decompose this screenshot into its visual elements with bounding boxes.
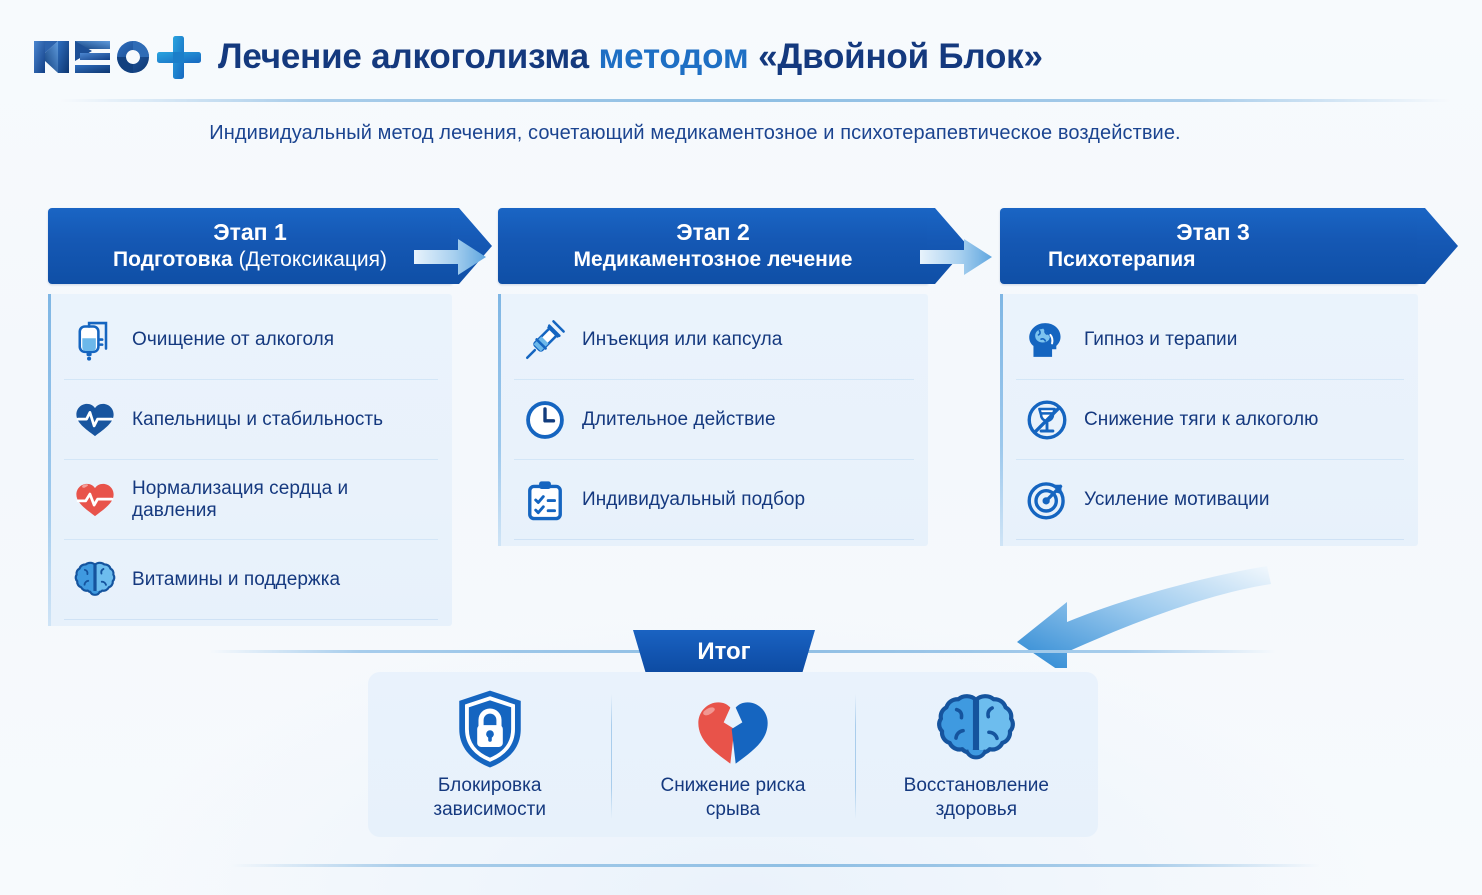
heart-pulse-red-icon	[64, 478, 126, 522]
stage-3-name: Психотерапия	[1048, 247, 1195, 272]
stage-2-label: Этап 2	[676, 220, 750, 245]
stage-2-items: Инъекция или капсула Длительное действие…	[498, 294, 928, 546]
list-item[interactable]: Витамины и поддержка	[64, 540, 438, 620]
stage-3-name-strong: Психотерапия	[1048, 248, 1195, 271]
list-item-label: Капельницы и стабильность	[126, 409, 383, 431]
result-item-label-line1: Блокировка	[438, 775, 542, 796]
list-item-label: Витамины и поддержка	[126, 569, 340, 591]
stage-connector-arrow-1	[414, 236, 488, 278]
stage-connector-arrow-2	[920, 236, 994, 278]
shield-lock-icon	[453, 688, 527, 770]
list-item-label: Инъекция или капсула	[576, 329, 782, 351]
result-item-label-line2: зависимости	[433, 799, 546, 820]
list-item[interactable]: Нормализация сердца и давления	[64, 460, 438, 540]
result-item-label: Снижение риска срыва	[660, 774, 805, 823]
no-alcohol-icon	[1016, 398, 1078, 442]
header-divider	[60, 99, 1450, 102]
stage-1-name: Подготовка (Детоксикация)	[113, 247, 387, 272]
list-item[interactable]: Снижение тяги к алкоголю	[1016, 380, 1404, 460]
stage-1-name-soft: (Детоксикация)	[239, 248, 387, 271]
heart-pulse-blue-icon	[64, 398, 126, 442]
stage-1-items: Очищение от алкоголя Капельницы и стабил…	[48, 294, 452, 626]
list-item-label: Очищение от алкоголя	[126, 329, 334, 351]
stage-2-name: Медикаментозное лечение	[574, 247, 853, 272]
head-brain-icon	[1016, 318, 1078, 362]
list-item[interactable]: Длительное действие	[514, 380, 914, 460]
stage-column-3: Этап 3 Психотерапия Гипноз и терапии Сни…	[1000, 208, 1418, 546]
target-arrow-icon	[1016, 478, 1078, 522]
footer-divider	[230, 864, 1320, 867]
stage-2-header[interactable]: Этап 2 Медикаментозное лечение	[498, 208, 928, 284]
list-item-label: Нормализация сердца и давления	[126, 478, 438, 522]
list-item-label: Усиление мотивации	[1078, 489, 1270, 511]
result-item-label: Блокировка зависимости	[433, 774, 546, 823]
clock-icon	[514, 398, 576, 442]
stage-3-header-point	[1417, 208, 1458, 284]
list-item[interactable]: Гипноз и терапии	[1016, 300, 1404, 380]
list-item[interactable]: Капельницы и стабильность	[64, 380, 438, 460]
stage-1-name-strong: Подготовка	[113, 248, 233, 271]
stage-3-items: Гипноз и терапии Снижение тяги к алкогол…	[1000, 294, 1418, 546]
stage-column-1: Этап 1 Подготовка (Детоксикация) Очищени…	[48, 208, 452, 626]
result-item-label-line1: Снижение риска	[660, 775, 805, 796]
neo-plus-logo	[28, 33, 204, 81]
syringe-icon	[514, 318, 576, 362]
title-part-1: Лечение алкоголизма	[218, 37, 589, 76]
clipboard-checklist-icon	[514, 478, 576, 522]
result-badge: Итог	[633, 630, 815, 673]
page-header: Лечение алкоголизма методом «Двойной Бло…	[0, 0, 1482, 102]
title-part-2: методом	[598, 37, 748, 76]
list-item-label: Индивидуальный подбор	[576, 489, 805, 511]
page-subtitle: Индивидуальный метод лечения, сочетающий…	[0, 122, 1390, 145]
result-item-blokirovka[interactable]: Блокировка зависимости	[368, 672, 611, 837]
list-item[interactable]: Инъекция или капсула	[514, 300, 914, 380]
list-item[interactable]: Очищение от алкоголя	[64, 300, 438, 380]
brain-icon	[934, 688, 1018, 770]
brain-icon	[64, 558, 126, 602]
stage-1-header[interactable]: Этап 1 Подготовка (Детоксикация)	[48, 208, 452, 284]
result-item-vosstanovlenie[interactable]: Восстановление здоровья	[855, 672, 1098, 837]
result-item-snizhenie-riska[interactable]: Снижение риска срыва	[611, 672, 854, 837]
result-item-label-line2: срыва	[706, 799, 760, 820]
stage-2-name-strong: Медикаментозное лечение	[574, 248, 853, 271]
stage-column-2: Этап 2 Медикаментозное лечение Инъекция …	[498, 208, 928, 546]
result-item-label-line1: Восстановление	[904, 775, 1049, 796]
broken-heart-icon	[690, 688, 776, 770]
result-card: Блокировка зависимости Снижение риска ср…	[368, 672, 1098, 837]
list-item[interactable]: Усиление мотивации	[1016, 460, 1404, 540]
page-title: Лечение алкоголизма методом «Двойной Бло…	[218, 33, 1043, 81]
title-part-3: «Двойной Блок»	[758, 37, 1043, 76]
stage-3-label: Этап 3	[1176, 220, 1290, 245]
result-item-label-line2: здоровья	[936, 799, 1017, 820]
stage-1-label: Этап 1	[213, 220, 287, 245]
list-item[interactable]: Индивидуальный подбор	[514, 460, 914, 540]
stage-3-header[interactable]: Этап 3 Психотерапия	[1000, 208, 1418, 284]
result-item-label: Восстановление здоровья	[904, 774, 1049, 823]
list-item-label: Гипноз и терапии	[1078, 329, 1237, 351]
list-item-label: Длительное действие	[576, 409, 776, 431]
iv-drip-icon	[64, 318, 126, 362]
list-item-label: Снижение тяги к алкоголю	[1078, 409, 1318, 431]
